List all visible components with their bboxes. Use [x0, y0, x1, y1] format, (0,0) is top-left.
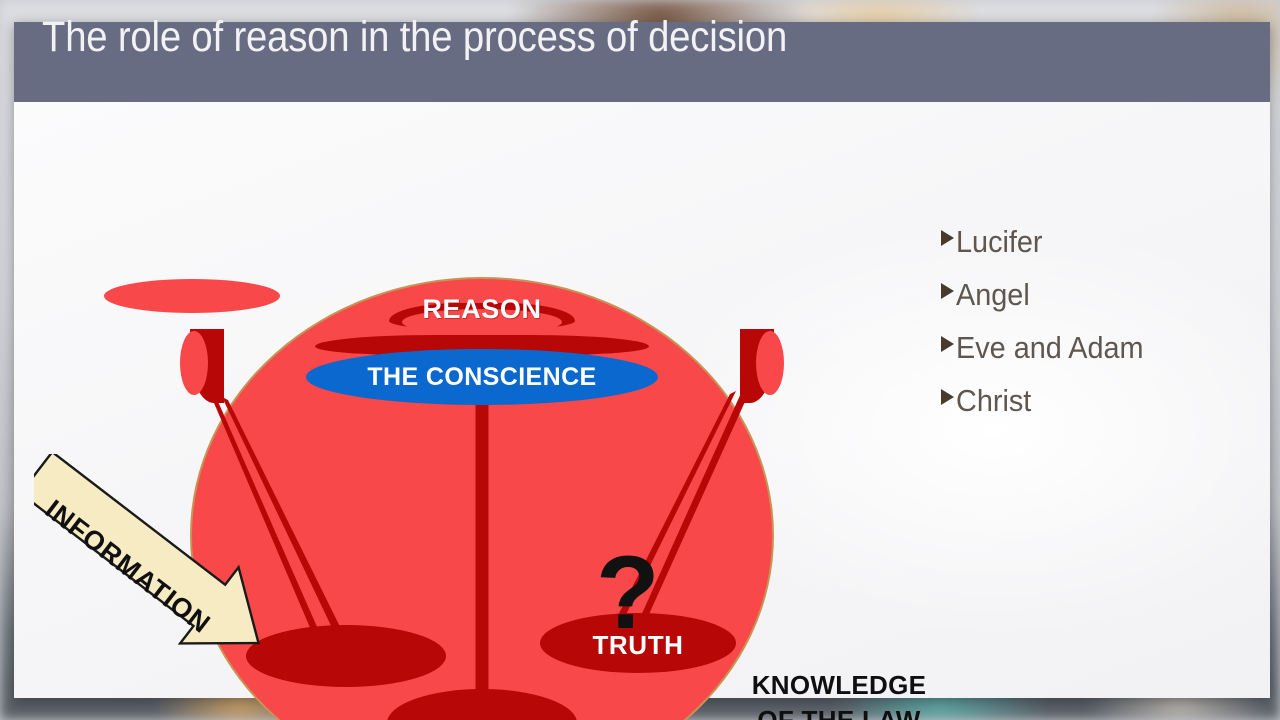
triangle-right-icon: [941, 283, 954, 299]
list-item[interactable]: Angel: [941, 277, 1251, 330]
label-reason: REASON: [192, 294, 772, 325]
triangle-right-icon: [941, 230, 954, 246]
slide-title-bar: The role of reason in the process of dec…: [14, 22, 1270, 102]
knowledge-line-1: KNOWLEDGE: [736, 668, 942, 703]
label-conscience: THE CONSCIENCE: [367, 363, 596, 392]
list-item-label: Lucifer: [956, 224, 1043, 260]
conscience-ellipse: THE CONSCIENCE: [306, 349, 658, 405]
slide-content-area: REASON THE CONSCIENCE ? TRUTH INFORMATIO…: [14, 102, 1270, 698]
list-item[interactable]: Eve and Adam: [941, 330, 1251, 383]
bullet-list: Lucifer Angel Eve and Adam Christ: [941, 224, 1251, 436]
label-knowledge-of-the-law: KNOWLEDGE OF THE LAW: [736, 668, 942, 720]
list-item[interactable]: Christ: [941, 383, 1251, 436]
page-title-text: The role of reason in the process of dec…: [42, 13, 787, 62]
list-item-label: Christ: [956, 383, 1031, 419]
list-item-label: Angel: [956, 277, 1030, 313]
triangle-right-icon: [941, 389, 954, 405]
page-title: The role of reason in the process of dec…: [42, 38, 879, 87]
list-item[interactable]: Lucifer: [941, 224, 1251, 277]
list-item-label: Eve and Adam: [956, 330, 1144, 366]
presentation-slide: The role of reason in the process of dec…: [14, 22, 1270, 698]
label-truth: TRUTH: [540, 630, 736, 661]
triangle-right-icon: [941, 336, 954, 352]
slide-viewer: The role of reason in the process of dec…: [0, 0, 1280, 720]
knowledge-line-2: OF THE LAW: [736, 703, 942, 720]
